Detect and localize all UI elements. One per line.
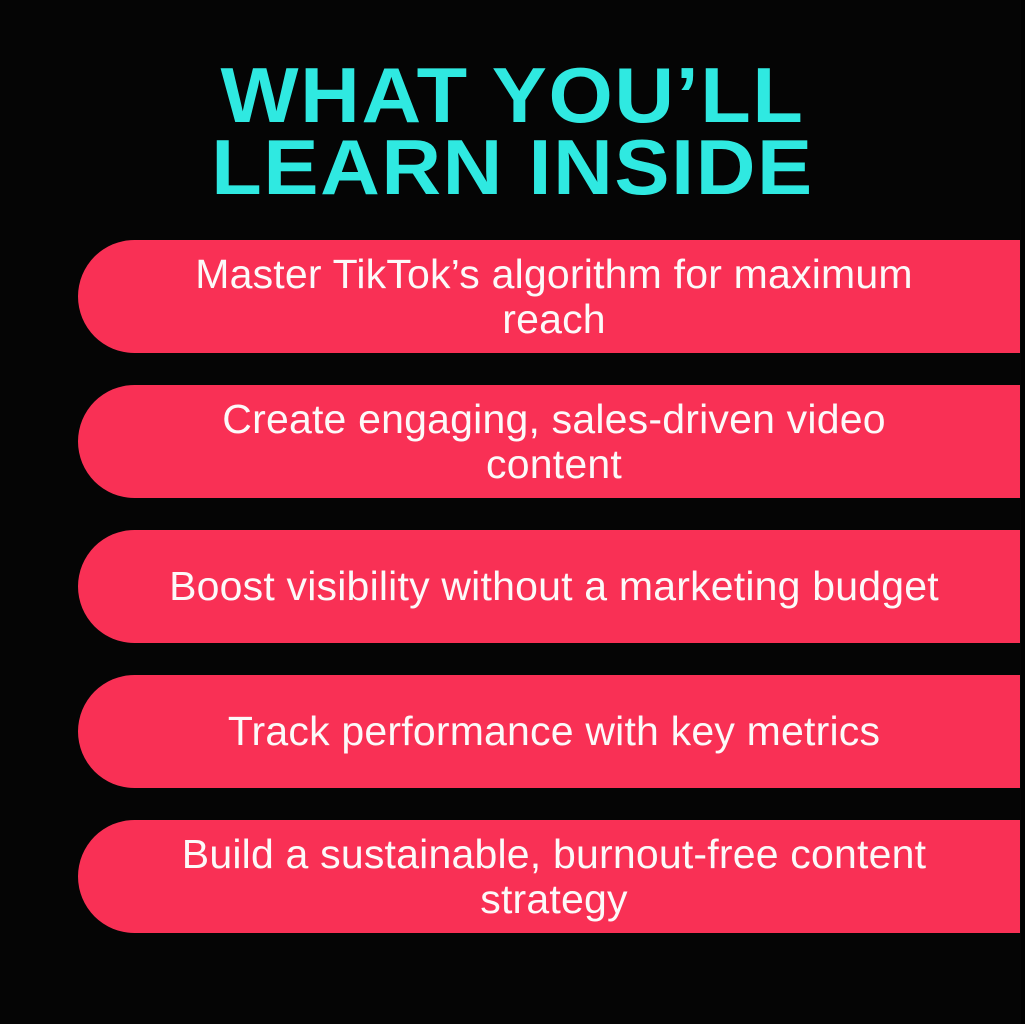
frame-right-edge [1021,0,1025,1024]
list-item-label: Build a sustainable, burnout-free conten… [154,832,954,921]
list-item-label: Master TikTok’s algorithm for maximum re… [154,252,954,341]
list-item: Track performance with key metrics [78,675,1020,788]
list-item: Master TikTok’s algorithm for maximum re… [78,240,1020,353]
benefit-list: Master TikTok’s algorithm for maximum re… [78,240,1025,933]
page-title-line-1: WHAT YOU’LL [0,60,1025,132]
list-item-label: Boost visibility without a marketing bud… [169,564,939,608]
slide-canvas: WHAT YOU’LL LEARN INSIDE Master TikTok’s… [0,0,1025,1024]
list-item-label: Track performance with key metrics [228,709,880,753]
list-item: Create engaging, sales-driven video cont… [78,385,1020,498]
list-item-label: Create engaging, sales-driven video cont… [154,397,954,486]
page-title-line-2: LEARN INSIDE [0,132,1025,204]
list-item: Boost visibility without a marketing bud… [78,530,1020,643]
list-item: Build a sustainable, burnout-free conten… [78,820,1020,933]
page-title: WHAT YOU’LL LEARN INSIDE [0,60,1025,204]
